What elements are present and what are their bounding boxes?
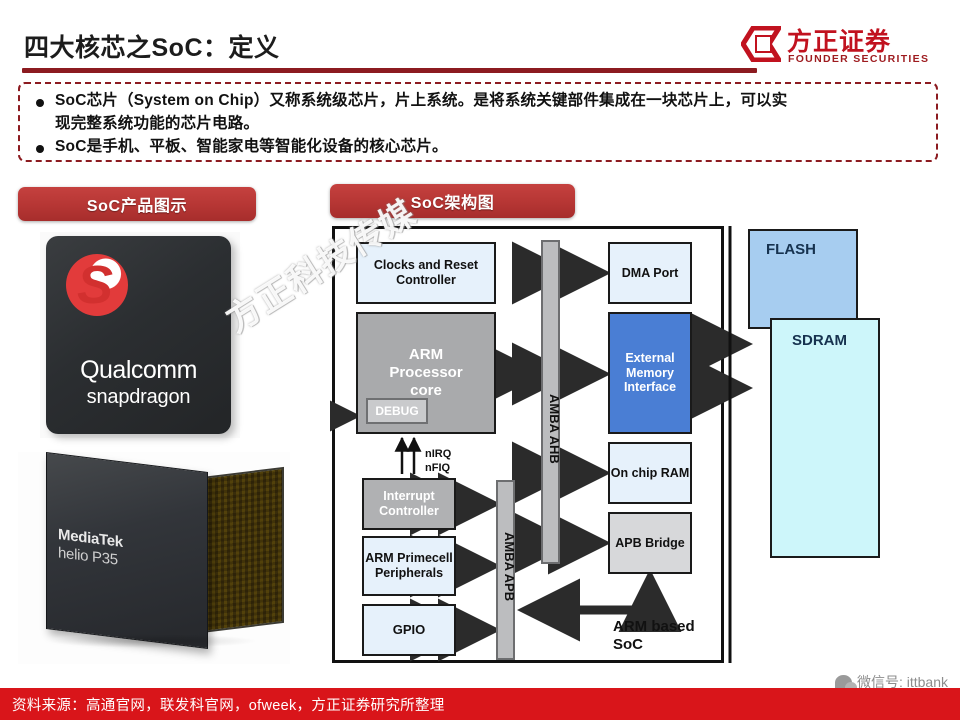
page-title: 四大核芯之SoC：定义 xyxy=(24,28,280,64)
brand-logo: 方正证券 FOUNDER SECURITIES xyxy=(741,22,946,70)
block-label-line3: core xyxy=(410,382,442,400)
chip-brand-label: Qualcomm xyxy=(46,356,231,385)
footer-source-text: 资料来源：高通官网，联发科官网，ofweek，方正证券研究所整理 xyxy=(0,694,445,715)
block-sdram: SDRAM xyxy=(770,318,880,558)
block-label-line1: ARM xyxy=(409,346,443,364)
block-label-line2: Processor xyxy=(389,364,462,382)
block-external-memory-interface: External Memory Interface xyxy=(608,312,692,434)
bullet-dot-icon xyxy=(36,99,44,107)
nirq-label: nIRQ xyxy=(425,448,451,462)
diagram-caption-line1: ARM based xyxy=(613,618,695,636)
bus-amba-ahb-label: AMBA AHB xyxy=(547,394,562,464)
snapdragon-s-icon xyxy=(66,254,128,316)
block-gpio: GPIO xyxy=(362,604,456,656)
chip-die: Qualcomm snapdragon xyxy=(46,236,231,434)
block-apb-bridge: APB Bridge xyxy=(608,512,692,574)
list-item: 现完整系统功能的芯片电路。 xyxy=(34,113,926,135)
footer-bar: 资料来源：高通官网，联发科官网，ofweek，方正证券研究所整理 xyxy=(0,688,960,720)
block-arm-primecell-peripherals: ARM Primecell Peripherals xyxy=(362,536,456,596)
bullet-dot-icon xyxy=(36,145,44,153)
chip-sub-label: snapdragon xyxy=(46,386,231,409)
slide-root: 四大核芯之SoC：定义 方正证券 FOUNDER SECURITIES SoC芯… xyxy=(0,0,960,720)
block-debug: DEBUG xyxy=(366,398,428,424)
mediatek-helio-chip-image: MediaTek helio P35 xyxy=(18,452,290,664)
irq-signal-labels: nIRQ nFIQ xyxy=(425,448,451,476)
diagram-caption-line2: SoC xyxy=(613,636,695,654)
title-underline xyxy=(22,68,757,73)
qualcomm-snapdragon-chip-image: Qualcomm snapdragon xyxy=(40,232,240,438)
section-banner-products: SoC产品图示 xyxy=(18,187,256,221)
block-flash: FLASH xyxy=(748,229,858,329)
block-dma-port: DMA Port xyxy=(608,242,692,304)
nfiq-label: nFIQ xyxy=(425,462,451,476)
section-banner-architecture: SoC架构图 xyxy=(330,184,575,218)
block-clocks-reset-controller: Clocks and Reset Controller xyxy=(356,242,496,304)
bullet-list: SoC芯片（System on Chip）又称系统级芯片，片上系统。是将系统关键… xyxy=(34,90,926,159)
diagram-caption: ARM based SoC xyxy=(613,618,695,654)
bullet-text: SoC是手机、平板、智能家电等智能化设备的核心芯片。 xyxy=(55,136,448,158)
bullet-text: SoC芯片（System on Chip）又称系统级芯片，片上系统。是将系统关键… xyxy=(55,90,787,112)
bullet-text: 现完整系统功能的芯片电路。 xyxy=(55,113,259,135)
list-item: SoC是手机、平板、智能家电等智能化设备的核心芯片。 xyxy=(34,136,926,158)
definition-callout-box: SoC芯片（System on Chip）又称系统级芯片，片上系统。是将系统关键… xyxy=(18,82,938,162)
soc-architecture-diagram: Clocks and Reset Controller ARM Processo… xyxy=(330,226,950,666)
block-arm-processor-core: ARM Processor core DEBUG xyxy=(356,312,496,434)
brand-logo-en: FOUNDER SECURITIES xyxy=(788,53,929,65)
block-interrupt-controller: Interrupt Controller xyxy=(362,478,456,530)
chip-shadow xyxy=(48,634,258,648)
list-item: SoC芯片（System on Chip）又称系统级芯片，片上系统。是将系统关键… xyxy=(34,90,926,112)
founder-diamond-icon xyxy=(741,26,781,62)
bus-amba-apb-label: AMBA APB xyxy=(502,532,517,601)
block-on-chip-ram: On chip RAM xyxy=(608,442,692,504)
